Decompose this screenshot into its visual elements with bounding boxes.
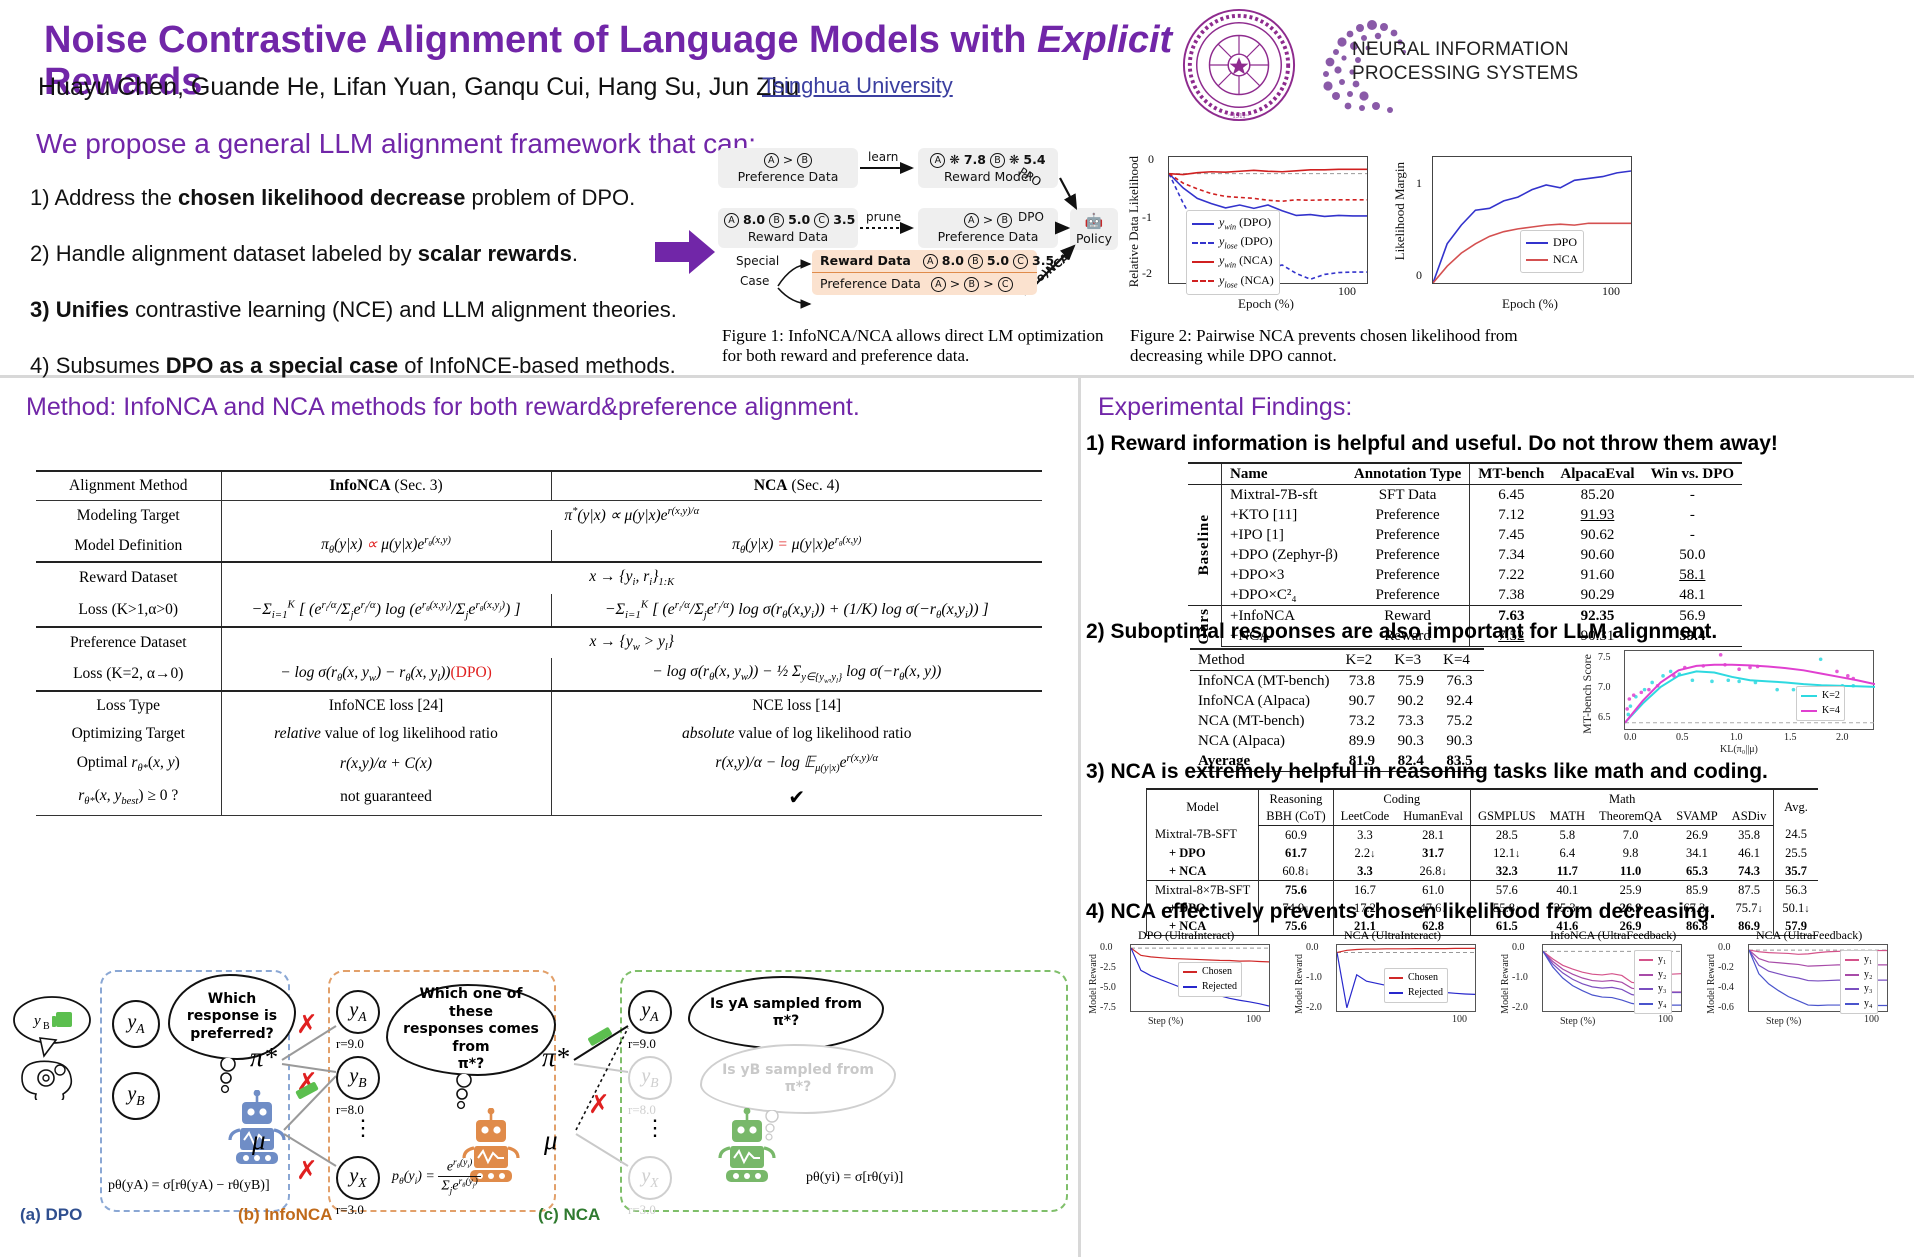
- table-row: Loss Type InfoNCE loss [24] NCE loss [14…: [36, 691, 1042, 720]
- t1-col-0: Name: [1222, 463, 1346, 485]
- bullet-pre: Address the: [54, 185, 178, 210]
- x-mark-b3: ✗: [296, 1156, 318, 1186]
- chart-right-xlabel: Epoch (%): [1502, 296, 1558, 312]
- poster-root: Noise Contrastive Alignment of Language …: [0, 0, 1914, 1257]
- legend-item: Chosen: [1389, 971, 1443, 986]
- tsinghua-university-seal-icon: ~1911~: [1180, 6, 1298, 124]
- table-cell: Preference: [1346, 545, 1470, 565]
- table-cell: 11.7: [1543, 862, 1592, 881]
- minichart-3-ytick-0: 0.0: [1718, 942, 1731, 953]
- chart-left-ytick-0: 0: [1148, 152, 1154, 167]
- t2-col-1: K=2: [1338, 649, 1387, 671]
- table-row: Alignment Method InfoNCA (Sec. 3) NCA (S…: [36, 471, 1042, 501]
- optimal-r-infonca: r(x,y)/α + C(x): [221, 748, 551, 779]
- minichart-2-ytick-0: 0.0: [1512, 942, 1525, 953]
- table-cell: 65.3: [1669, 862, 1724, 881]
- legend-item: y₁: [1845, 953, 1873, 968]
- table-cell: -: [1643, 525, 1743, 545]
- list-item: 1) Address the chosen likelihood decreas…: [30, 185, 690, 211]
- figure-2-right-legend: DPONCA: [1520, 230, 1584, 273]
- table-header-row: NameAnnotation TypeMT-benchAlpacaEvalWin…: [1188, 463, 1742, 485]
- t1-col-3: AlpacaEval: [1552, 463, 1642, 485]
- neurips-line-2: PROCESSING SYSTEMS: [1352, 62, 1578, 86]
- edge-label-learn: learn: [868, 150, 898, 164]
- table-cell: 87.5: [1725, 881, 1774, 900]
- table-cell: 91.60: [1552, 565, 1642, 585]
- table-row: + NCA60.8↓3.326.8↓32.311.711.065.374.335…: [1147, 862, 1818, 881]
- table-cell: 9.8: [1592, 844, 1669, 862]
- x-mark-c: ✗: [588, 1090, 610, 1120]
- row-nonneg: rθ*(x, ybest) ≥ 0 ?: [36, 780, 221, 816]
- t2-col-2: K=3: [1386, 649, 1435, 671]
- minichart-legend-2: y₁y₂y₃y₄: [1634, 950, 1672, 1014]
- opt-target-rest-info: value of log likelihood ratio: [321, 725, 498, 742]
- table-cell: 7.38: [1470, 585, 1553, 606]
- t3-col-avg: Avg.: [1774, 789, 1818, 826]
- table-cell: 75.6: [1259, 881, 1333, 900]
- bullet-bold: Unifies: [56, 297, 129, 322]
- table-row: Loss (K=2, α→0) − log σ(rθ(x, yw) − rθ(x…: [36, 658, 1042, 691]
- table-cell: 60.8↓: [1259, 862, 1333, 881]
- kl-legend: K=2K=4: [1796, 686, 1845, 721]
- row-loss-k2: Loss (K=2, α→0): [36, 658, 221, 691]
- minichart-ylabel-3: Model Reward: [1706, 954, 1717, 1014]
- table-cell: 89.9: [1338, 731, 1387, 751]
- node-reward-data-left: A 8.0 B 5.0 C 3.5 Reward Data: [718, 208, 858, 248]
- formula-infonca: pθ(yi) = erθ(yi) Σjerθ(yj): [392, 1158, 481, 1196]
- method-table: Alignment Method InfoNCA (Sec. 3) NCA (S…: [36, 470, 1042, 816]
- kl-ytick-1: 7.0: [1598, 682, 1611, 693]
- table-cell: 35.7: [1774, 862, 1818, 881]
- chart-right-ylabel: Likelihood Margin: [1392, 162, 1408, 260]
- reward-dataset-formula: x → {yi, ri}1:K: [221, 562, 1042, 593]
- table-cell: Mixtral-7B-sft: [1222, 485, 1346, 506]
- t3-col-5: MATH: [1543, 808, 1592, 826]
- minichart-legend-1: ChosenRejected: [1384, 968, 1448, 1003]
- experiments-heading: Experimental Findings:: [1098, 393, 1352, 422]
- minichart-xtick-1: 100: [1452, 1014, 1467, 1025]
- nca-sec: (Sec. 4): [791, 477, 839, 494]
- list-item: 3) Unifies contrastive learning (NCE) an…: [30, 297, 690, 323]
- panel-label-dpo: (a) DPO: [20, 1205, 82, 1225]
- chart-left-xlabel: Epoch (%): [1238, 296, 1294, 312]
- figure-1-caption: Figure 1: InfoNCA/NCA allows direct LM o…: [722, 326, 1107, 366]
- chart-left-ytick-2: -2: [1142, 266, 1152, 281]
- legend-item: Rejected: [1389, 986, 1443, 1001]
- loss-k-infonca: −Σi=1K [ (eri/α/Σjerj/α) log (erθ(x,yi)/…: [221, 594, 551, 628]
- kl-xlabel: KL(π₀||μ): [1720, 744, 1758, 755]
- table-cell: 25.5: [1774, 844, 1818, 862]
- neurips-wordmark: NEURAL INFORMATION PROCESSING SYSTEMS: [1352, 38, 1578, 86]
- list-item: 2) Handle alignment dataset labeled by s…: [30, 241, 690, 267]
- t3-col-2: LeetCode: [1333, 808, 1396, 826]
- right-arrow-icon: [655, 228, 715, 276]
- table-cell: 32.3: [1470, 862, 1542, 881]
- rm-b: 5.4: [1023, 152, 1045, 167]
- kl-xtick-3: 1.5: [1784, 732, 1797, 743]
- title-part-a: Noise Contrastive Alignment of Language …: [44, 19, 1037, 61]
- bullet-num: 1): [30, 185, 54, 210]
- row-loss-type: Loss Type: [36, 691, 221, 720]
- table-cell: 11.0: [1592, 862, 1669, 881]
- minichart-3-ytick-2: -0.4: [1718, 982, 1734, 993]
- nonneg-infonca: not guaranteed: [221, 780, 551, 816]
- chart-left-xtick: 100: [1338, 284, 1356, 299]
- table-header-row: ModelReasoningCodingMathAvg.: [1147, 789, 1818, 808]
- infonca-sec: (Sec. 3): [394, 477, 442, 494]
- figure-2-charts: Relative Data Likelihood 0 -1 -2 100 Epo…: [1120, 148, 1910, 313]
- pi-star-c: π*: [542, 1042, 569, 1073]
- results-table-2: MethodK=2K=3K=4InfoNCA (MT-bench)73.875.…: [1190, 648, 1484, 772]
- t3-group-math: Math: [1470, 789, 1773, 808]
- table-cell: 34.1: [1669, 844, 1724, 862]
- table-cell: 5.8: [1543, 826, 1592, 845]
- table-cell: 50.0: [1643, 545, 1743, 565]
- legend-item: Rejected: [1183, 980, 1237, 995]
- table-row: InfoNCA (MT-bench)73.875.976.3: [1190, 671, 1484, 692]
- loss-k2-infonca: − log σ(rθ(x, yw) − rθ(x, yl))(DPO): [221, 658, 551, 691]
- minichart-xlabel-0: Step (%): [1148, 1016, 1183, 1027]
- reward-ya-nca: r=9.0: [628, 1036, 656, 1052]
- circle-ya-dpo: yA: [112, 1000, 160, 1048]
- minichart-ylabel-0: Model Reward: [1088, 954, 1099, 1014]
- table-cell: 61.7: [1259, 844, 1333, 862]
- human-speech-bubble-icon: y B: [10, 990, 100, 1100]
- minichart-3-ytick-3: -0.6: [1718, 1002, 1734, 1013]
- table-cell: 73.8: [1338, 671, 1387, 692]
- intro-lead: We propose a general LLM alignment frame…: [36, 128, 756, 160]
- minichart-xtick-0: 100: [1246, 1014, 1261, 1025]
- special-case-label-2: Case: [740, 274, 769, 288]
- table-row: +KTO [11]Preference7.1291.93-: [1188, 505, 1742, 525]
- minichart-title-1: NCA (UltraInteract): [1344, 928, 1441, 943]
- table-cell: 3.3: [1333, 826, 1396, 845]
- kl-xtick-0: 0.0: [1624, 732, 1637, 743]
- t3-group-coding: Coding: [1333, 789, 1470, 808]
- list-item: 4) Subsumes DPO as a special case of Inf…: [30, 353, 690, 379]
- table-cell: +DPO×C²₄: [1222, 585, 1346, 606]
- table-cell: 92.4: [1435, 691, 1484, 711]
- bullet-num: 4): [30, 353, 56, 378]
- table-cell: +KTO [11]: [1222, 505, 1346, 525]
- opt-target-infonca: relative value of log likelihood ratio: [221, 720, 551, 748]
- table-cell: Preference: [1346, 525, 1470, 545]
- table-header-row: MethodK=2K=3K=4: [1190, 649, 1484, 671]
- reward-ya-infonca: r=9.0: [336, 1036, 364, 1052]
- bullet-bold: DPO as a special case: [166, 353, 398, 378]
- minichart-1-ytick-2: -2.0: [1306, 1002, 1322, 1013]
- table-cell: 16.7: [1333, 881, 1396, 900]
- table-cell: NCA (Alpaca): [1190, 731, 1338, 751]
- method-col-head-1: InfoNCA (Sec. 3): [221, 471, 551, 501]
- t3-col-3: HumanEval: [1396, 808, 1470, 826]
- minichart-legend-0: ChosenRejected: [1178, 962, 1242, 997]
- figure-2-caption: Figure 2: Pairwise NCA prevents chosen l…: [1130, 326, 1550, 366]
- special-reward-row: Reward Data A 8.0 B 5.0 C 3.5: [812, 250, 1037, 272]
- dpo-tag: (DPO): [450, 664, 491, 681]
- table-cell: SFT Data: [1346, 485, 1470, 506]
- table-cell: +DPO×3: [1222, 565, 1346, 585]
- table-cell: 25.9: [1592, 881, 1669, 900]
- table-row: InfoNCA (Alpaca)90.790.292.4: [1190, 691, 1484, 711]
- table-cell: 28.1: [1396, 826, 1470, 845]
- t3-group-reasoning: Reasoning: [1259, 789, 1333, 808]
- svg-text:y: y: [32, 1013, 41, 1029]
- table-row: Optimizing Target relative value of log …: [36, 720, 1042, 748]
- circle-yb-dpo: yB: [112, 1072, 160, 1120]
- nca-label: NCA: [754, 477, 788, 494]
- legend-item: Chosen: [1183, 965, 1237, 980]
- table-cell: Preference: [1346, 585, 1470, 606]
- finding-1: 1) Reward information is helpful and use…: [1086, 432, 1778, 456]
- table-cell: 7.34: [1470, 545, 1553, 565]
- table-cell: Mixtral-7B-SFT: [1147, 826, 1259, 845]
- table-cell: 90.62: [1552, 525, 1642, 545]
- table-cell: InfoNCA (MT-bench): [1190, 671, 1338, 692]
- table-cell: 46.1: [1725, 844, 1774, 862]
- chart-nca-ultrafeedback: NCA (UltraFeedback)Model RewardStep (%)1…: [1704, 928, 1910, 1038]
- table-row: + DPO61.72.2↓31.712.1↓6.49.834.146.125.5: [1147, 844, 1818, 862]
- poster-header: Noise Contrastive Alignment of Language …: [0, 0, 1914, 378]
- method-col-head-2: NCA (Sec. 4): [551, 471, 1042, 501]
- special-reward-label: Reward Data: [820, 253, 911, 268]
- table-cell: Preference: [1346, 565, 1470, 585]
- table-cell: 61.0: [1396, 881, 1470, 900]
- table-row: Model Definition πθ(y|x) ∝ μ(y|x)erθ(x,y…: [36, 530, 1042, 562]
- legend-item: NCA: [1526, 251, 1578, 268]
- chart-left-ytick-1: -1: [1142, 210, 1152, 225]
- table-row: +IPO [1]Preference7.4590.62-: [1188, 525, 1742, 545]
- table-row: Modeling Target π*(y|x) ∝ μ(y|x)er(x,y)/…: [36, 501, 1042, 531]
- reward-yx-infonca: r=3.0: [336, 1202, 364, 1218]
- circle-yx-infonca: yX: [336, 1156, 380, 1200]
- model-def-nca: πθ(y|x) = μ(y|x)erθ(x,y): [551, 530, 1042, 562]
- circle-yx-nca: yX: [628, 1156, 672, 1200]
- t3-col-7: SVAMP: [1669, 808, 1724, 826]
- nonneg-nca-check: ✔: [551, 780, 1042, 816]
- table-row: Mixtral-8×7B-SFT75.616.761.057.640.125.9…: [1147, 881, 1818, 900]
- chart-right-ytick-1: 0: [1416, 268, 1422, 283]
- table-cell: 73.3: [1386, 711, 1435, 731]
- opt-target-rest-nca: value of log likelihood ratio: [735, 725, 912, 742]
- bullet-num: 2): [30, 241, 56, 266]
- loss-k2-nca: − log σ(rθ(x, yw)) − ½ Σy∈{yw,yl} log σ(…: [551, 658, 1042, 691]
- row-model-definition: Model Definition: [36, 530, 221, 562]
- table-cell: 90.3: [1386, 731, 1435, 751]
- pi-star-b: π*: [250, 1042, 277, 1073]
- bottom-diagram: (a) DPO y B yA yB Whichresponse isprefer…: [0, 960, 1075, 1257]
- legend-item: y₂: [1845, 968, 1873, 983]
- minichart-1-ytick-1: -1.0: [1306, 972, 1322, 983]
- t2-col-0: Method: [1190, 649, 1338, 671]
- table-cell: 60.9: [1259, 826, 1333, 845]
- minichart-title-2: InfoNCA (UltraFeedback): [1550, 928, 1676, 943]
- robot-icon-nca: [712, 1108, 778, 1188]
- panel-label-nca: (c) NCA: [538, 1205, 600, 1225]
- special-case-box: Reward Data A 8.0 B 5.0 C 3.5 Preference…: [812, 250, 1037, 295]
- table-cell: NCA (MT-bench): [1190, 711, 1338, 731]
- table-cell: 91.93: [1552, 505, 1642, 525]
- bullet-num: 3): [30, 297, 56, 322]
- minichart-legend-3: y₁y₂y₃y₄: [1840, 950, 1878, 1014]
- minichart-2-ytick-1: -1.0: [1512, 972, 1528, 983]
- minichart-0-ytick-2: -5.0: [1100, 982, 1116, 993]
- table-cell: + DPO: [1147, 844, 1259, 862]
- table-cell: 7.12: [1470, 505, 1553, 525]
- table-cell: + NCA: [1147, 862, 1259, 881]
- minichart-xlabel-3: Step (%): [1766, 1016, 1801, 1027]
- table-row: rθ*(x, ybest) ≥ 0 ? not guaranteed ✔: [36, 780, 1042, 816]
- row-reward-dataset: Reward Dataset: [36, 562, 221, 593]
- table-cell: InfoNCA (Alpaca): [1190, 691, 1338, 711]
- circle-yb-infonca: yB: [336, 1056, 380, 1100]
- table-cell: 56.3: [1774, 881, 1818, 900]
- bullet-pre: Handle alignment dataset labeled by: [56, 241, 418, 266]
- t3-col-6: TheoremQA: [1592, 808, 1669, 826]
- legend-item: K=2: [1801, 689, 1840, 704]
- table-cell: -: [1643, 505, 1743, 525]
- table-cell: 26.8↓: [1396, 862, 1470, 881]
- row-modeling-target: Modeling Target: [36, 501, 221, 531]
- column-divider: [1078, 378, 1081, 1257]
- table-cell: 3.3: [1333, 862, 1396, 881]
- legend-item: y₃: [1845, 982, 1873, 997]
- table-row: BaselineMixtral-7B-sftSFT Data6.4585.20-: [1188, 485, 1742, 506]
- table-cell: 90.7: [1338, 691, 1387, 711]
- table-cell: 57.6: [1470, 881, 1542, 900]
- x-mark-b1: ✗: [296, 1010, 318, 1040]
- table-cell: 31.7: [1396, 844, 1470, 862]
- kl-ytick-0: 6.5: [1598, 712, 1611, 723]
- legend-item: ylose (DPO): [1192, 233, 1274, 252]
- table-row: Loss (K>1,α>0) −Σi=1K [ (eri/α/Σjerj/α) …: [36, 594, 1042, 628]
- table-cell: 12.1↓: [1470, 844, 1542, 862]
- kl-scatter-chart: MT-bench Score 7.5 7.0 6.5 0.0 0.5 1.0 1…: [1580, 648, 1910, 758]
- table-cell: 74.3: [1725, 862, 1774, 881]
- legend-item: y₁: [1639, 953, 1667, 968]
- edge-label-prune: prune: [866, 210, 901, 224]
- loss-type-nca: NCE loss [14]: [551, 691, 1042, 720]
- kl-ytick-2: 7.5: [1598, 652, 1611, 663]
- table-cell: 48.1: [1643, 585, 1743, 606]
- table-cell: Mixtral-8×7B-SFT: [1147, 881, 1259, 900]
- formula-dpo: pθ(yA) = σ[rθ(yA) − rθ(yB)]: [108, 1178, 270, 1194]
- bullet-post: .: [572, 241, 578, 266]
- bullet-post: contrastive learning (NCE) and LLM align…: [129, 297, 677, 322]
- thought-bubble-infonca: Which one of theseresponses comes fromπ*…: [386, 984, 556, 1076]
- intro-bullets: 1) Address the chosen likelihood decreas…: [30, 185, 690, 409]
- minichart-0-ytick-1: -2.5: [1100, 962, 1116, 973]
- table-cell: 50.1↓: [1774, 899, 1818, 917]
- finding-4: 4) NCA effectively prevents chosen likel…: [1086, 900, 1715, 924]
- t2-col-3: K=4: [1435, 649, 1484, 671]
- circle-ya-nca: yA: [628, 990, 672, 1034]
- table-cell: 6.45: [1470, 485, 1553, 506]
- model-def-infonca: πθ(y|x) ∝ μ(y|x)erθ(x,y): [221, 530, 551, 562]
- opt-target-em-info: relative: [274, 725, 321, 742]
- table-cell: 73.2: [1338, 711, 1387, 731]
- ellipsis-b: ⋮: [352, 1122, 374, 1134]
- legend-item: ywin (DPO): [1192, 214, 1274, 233]
- ellipsis-c: ⋮: [644, 1122, 666, 1134]
- row-optimal-r: Optimal rθ*(x, y): [36, 748, 221, 779]
- infonca-label: InfoNCA: [329, 477, 390, 494]
- chart-left-ylabel: Relative Data Likelihood: [1126, 156, 1142, 287]
- row-optimizing-target: Optimizing Target: [36, 720, 221, 748]
- legend-item: K=4: [1801, 704, 1840, 719]
- node-policy: 🤖 Policy: [1070, 208, 1118, 250]
- t1-col-1: Annotation Type: [1346, 463, 1470, 485]
- table-row: Optimal rθ*(x, y) r(x,y)/α + C(x) r(x,y)…: [36, 748, 1042, 779]
- chart-dpo-ultrainteract: DPO (UltraInteract)Model RewardStep (%)1…: [1086, 928, 1292, 1038]
- chart-right-xtick: 100: [1602, 284, 1620, 299]
- table-row: +DPO×C²₄Preference7.3890.2948.1: [1188, 585, 1742, 606]
- neurips-line-1: NEURAL INFORMATION: [1352, 38, 1578, 62]
- table-cell: 26.9: [1669, 826, 1724, 845]
- formula-nca: pθ(yi) = σ[rθ(yi)]: [806, 1170, 903, 1186]
- minichart-xlabel-2: Step (%): [1560, 1016, 1595, 1027]
- bullet-bold: chosen likelihood decrease: [178, 185, 465, 210]
- table-cell: 7.22: [1470, 565, 1553, 585]
- table-cell: 90.3: [1435, 731, 1484, 751]
- loss-type-infonca: InfoNCE loss [24]: [221, 691, 551, 720]
- kl-xtick-1: 0.5: [1676, 732, 1689, 743]
- method-col-head-0: Alignment Method: [36, 471, 221, 501]
- rd-c: 3.5: [833, 212, 855, 227]
- opt-target-nca: absolute value of log likelihood ratio: [551, 720, 1042, 748]
- title-emphasis: Explicit: [1037, 19, 1172, 61]
- minichart-title-0: DPO (UltraInteract): [1138, 928, 1234, 943]
- optimal-r-nca: r(x,y)/α − log 𝔼μ(y|x)er(x,y)/α: [551, 748, 1042, 779]
- thought-bubble-nca: Is yA sampled from π*?: [688, 976, 884, 1050]
- table-cell: 24.5: [1774, 826, 1818, 845]
- figure-2-left-legend: ywin (DPO)ylose (DPO)ywin (NCA)ylose (NC…: [1186, 210, 1280, 295]
- likelihood-charts: DPO (UltraInteract)Model RewardStep (%)1…: [1086, 928, 1910, 1038]
- finding-3: 3) NCA is extremely helpful in reasoning…: [1086, 760, 1768, 784]
- edge-label-dpo: DPO: [1018, 210, 1044, 224]
- author-list: Huayu Chen, Guande He, Lifan Yuan, Ganqu…: [38, 73, 799, 102]
- table-cell: 85.20: [1552, 485, 1642, 506]
- minichart-3-ytick-1: -0.2: [1718, 962, 1734, 973]
- affiliation-link[interactable]: Tsinghua University: [762, 73, 953, 99]
- table-cell: 90.60: [1552, 545, 1642, 565]
- table-cell: 90.29: [1552, 585, 1642, 606]
- svg-text:B: B: [43, 1021, 50, 1032]
- t1-col-4: Win vs. DPO: [1643, 463, 1743, 485]
- minichart-0-ytick-3: -7.5: [1100, 1002, 1116, 1013]
- table-cell: 2.2↓: [1333, 844, 1396, 862]
- rd-b: 5.0: [788, 212, 810, 227]
- thought-bubble-nca-faded: Is yB sampled from π*?: [700, 1044, 896, 1114]
- table-cell: 7.0: [1592, 826, 1669, 845]
- minichart-xtick-3: 100: [1864, 1014, 1879, 1025]
- table-cell: 35.8: [1725, 826, 1774, 845]
- legend-item: ylose (NCA): [1192, 272, 1274, 291]
- chart-right-ytick-0: 1: [1416, 176, 1422, 191]
- table-cell: 85.9: [1669, 881, 1724, 900]
- special-case-label-1: Special: [736, 254, 779, 268]
- minichart-1-ytick-0: 0.0: [1306, 942, 1319, 953]
- modeling-target-formula: π*(y|x) ∝ μ(y|x)er(x,y)/α: [221, 501, 1042, 531]
- node-preference-data-top: A > B Preference Data: [718, 148, 858, 188]
- bullet-pre: Subsumes: [56, 353, 166, 378]
- kl-xtick-4: 2.0: [1836, 732, 1849, 743]
- legend-item: y₄: [1845, 997, 1873, 1012]
- finding-2: 2) Suboptimal responses are also importa…: [1086, 620, 1717, 644]
- method-heading: Method: InfoNCA and NCA methods for both…: [26, 393, 860, 422]
- row-loss-k: Loss (K>1,α>0): [36, 594, 221, 628]
- panel-label-infonca: (b) InfoNCA: [238, 1205, 332, 1225]
